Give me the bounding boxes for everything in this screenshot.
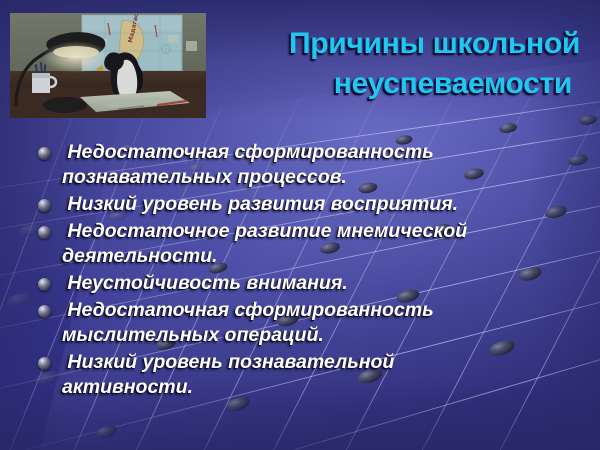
sphere-bullet-icon <box>38 147 51 160</box>
sphere-bullet-icon <box>38 305 51 318</box>
list-item-label: Низкий уровень познавательной активности… <box>62 350 582 400</box>
list-item-label: Недостаточное развитие мнемической деяте… <box>62 219 582 269</box>
bullet-list: Недостаточная сформированность познавате… <box>34 140 582 402</box>
sphere-bullet-icon <box>38 357 51 370</box>
list-item: Низкий уровень познавательной активности… <box>34 350 582 400</box>
sphere-bullet-icon <box>38 226 51 239</box>
list-item: Недостаточная сформированность познавате… <box>34 140 582 190</box>
title-line-1: Причины школьной <box>196 24 580 64</box>
list-item: Недостаточное развитие мнемической деяте… <box>34 219 582 269</box>
list-item-label: Недостаточная сформированность мыслитель… <box>62 298 582 348</box>
list-item: Недостаточная сформированность мыслитель… <box>34 298 582 348</box>
list-item-label: Низкий уровень развития восприятия. <box>62 192 582 217</box>
list-item-label: Неустойчивость внимания. <box>62 271 582 296</box>
slide-title: Причины школьной неуспеваемости <box>196 24 580 104</box>
title-line-2: неуспеваемости <box>196 64 580 104</box>
list-item-label: Недостаточная сформированность познавате… <box>62 140 582 190</box>
sphere-bullet-icon <box>38 199 51 212</box>
presentation-slide: Мадагас <box>0 0 600 450</box>
list-item: Неустойчивость внимания. <box>34 271 582 296</box>
penguin-at-desk-photo: Мадагас <box>10 13 206 118</box>
list-item: Низкий уровень развития восприятия. <box>34 192 582 217</box>
sphere-bullet-icon <box>38 278 51 291</box>
